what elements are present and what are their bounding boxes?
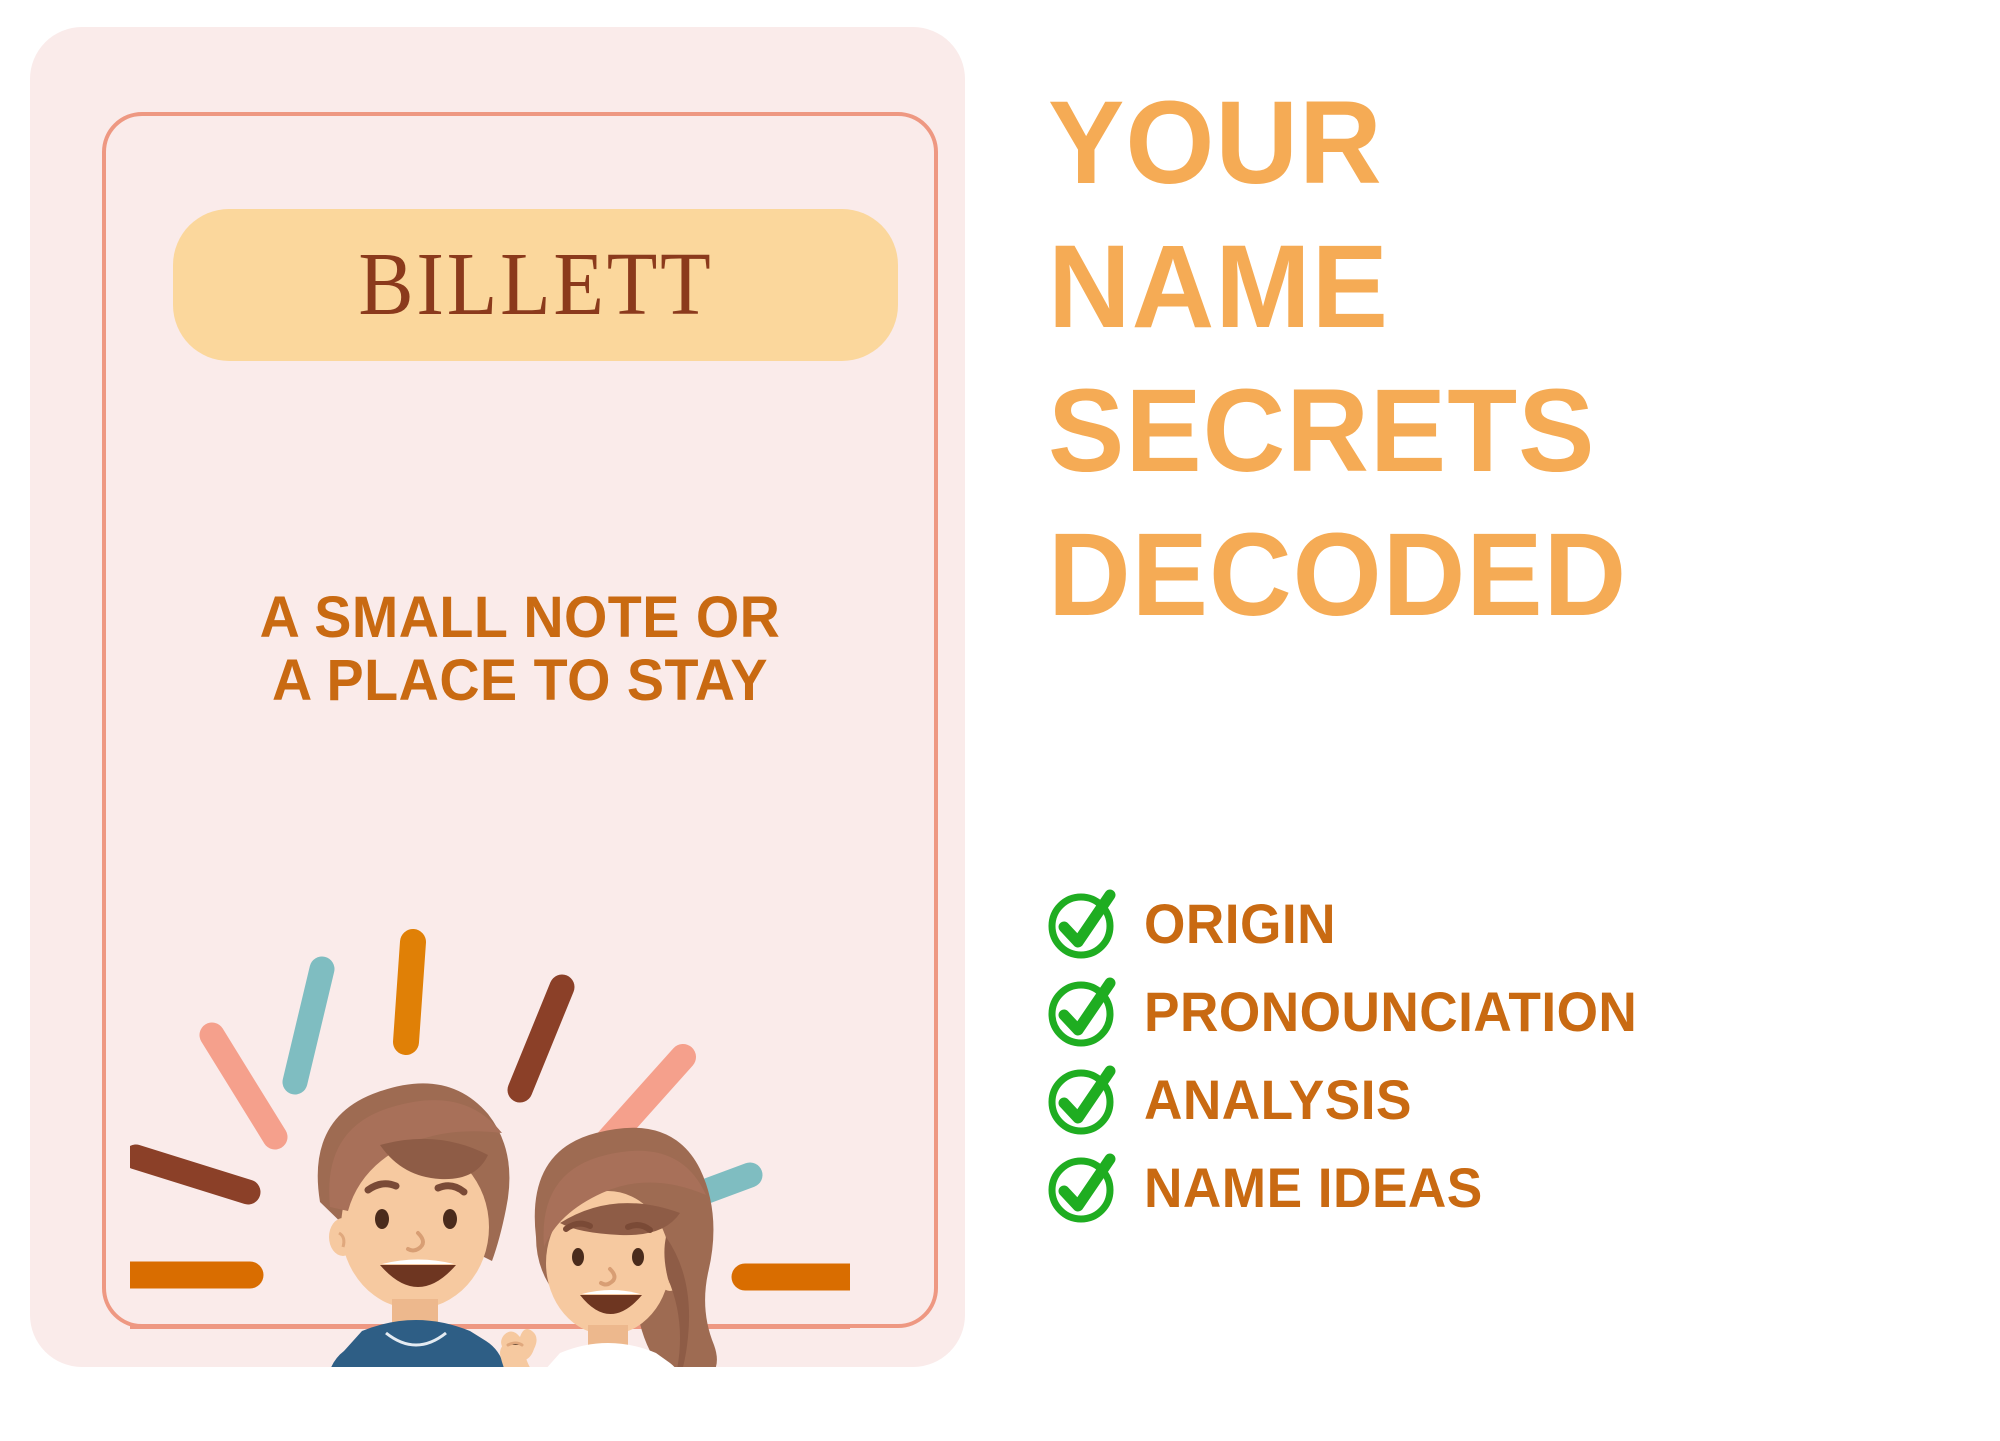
checklist-label: PRONOUNCIATION <box>1144 984 1637 1040</box>
checklist-label: ANALYSIS <box>1144 1072 1412 1128</box>
headline-line-4: DECODED <box>1048 504 1940 648</box>
checklist-item-pronounciation: PRONOUNCIATION <box>1046 968 1966 1056</box>
poster-canvas: BILLETT A SMALL NOTE OR A PLACE TO STAY <box>0 0 2000 1414</box>
girl-figure <box>501 1128 717 1441</box>
check-circle-icon <box>1046 975 1120 1049</box>
checklist-label: ORIGIN <box>1144 896 1336 952</box>
check-circle-icon <box>1046 1151 1120 1225</box>
feature-checklist: ORIGIN PRONOUNCIATION <box>1046 880 1966 1232</box>
headline-line-3: SECRETS <box>1048 360 1940 504</box>
meaning-line-1: A SMALL NOTE OR <box>119 587 922 650</box>
headline-line-2: NAME <box>1048 216 1940 360</box>
two-children-illustration <box>130 907 850 1441</box>
check-circle-icon <box>1046 1063 1120 1137</box>
name-badge: BILLETT <box>173 209 898 361</box>
meaning-line-2: A PLACE TO STAY <box>119 650 922 713</box>
checklist-item-origin: ORIGIN <box>1046 880 1966 968</box>
check-circle-icon <box>1046 887 1120 961</box>
checklist-label: NAME IDEAS <box>1144 1160 1483 1216</box>
page-title: YOUR NAME SECRETS DECODED <box>1048 72 1968 648</box>
right-panel: YOUR NAME SECRETS DECODED ORIGIN <box>1040 0 1970 1414</box>
checklist-item-analysis: ANALYSIS <box>1046 1056 1966 1144</box>
checklist-item-name-ideas: NAME IDEAS <box>1046 1144 1966 1232</box>
boy-figure <box>318 1083 522 1441</box>
name-badge-label: BILLETT <box>358 240 713 330</box>
name-card: BILLETT A SMALL NOTE OR A PLACE TO STAY <box>30 27 965 1367</box>
name-meaning: A SMALL NOTE OR A PLACE TO STAY <box>119 587 922 712</box>
headline-line-1: YOUR <box>1048 72 1940 216</box>
